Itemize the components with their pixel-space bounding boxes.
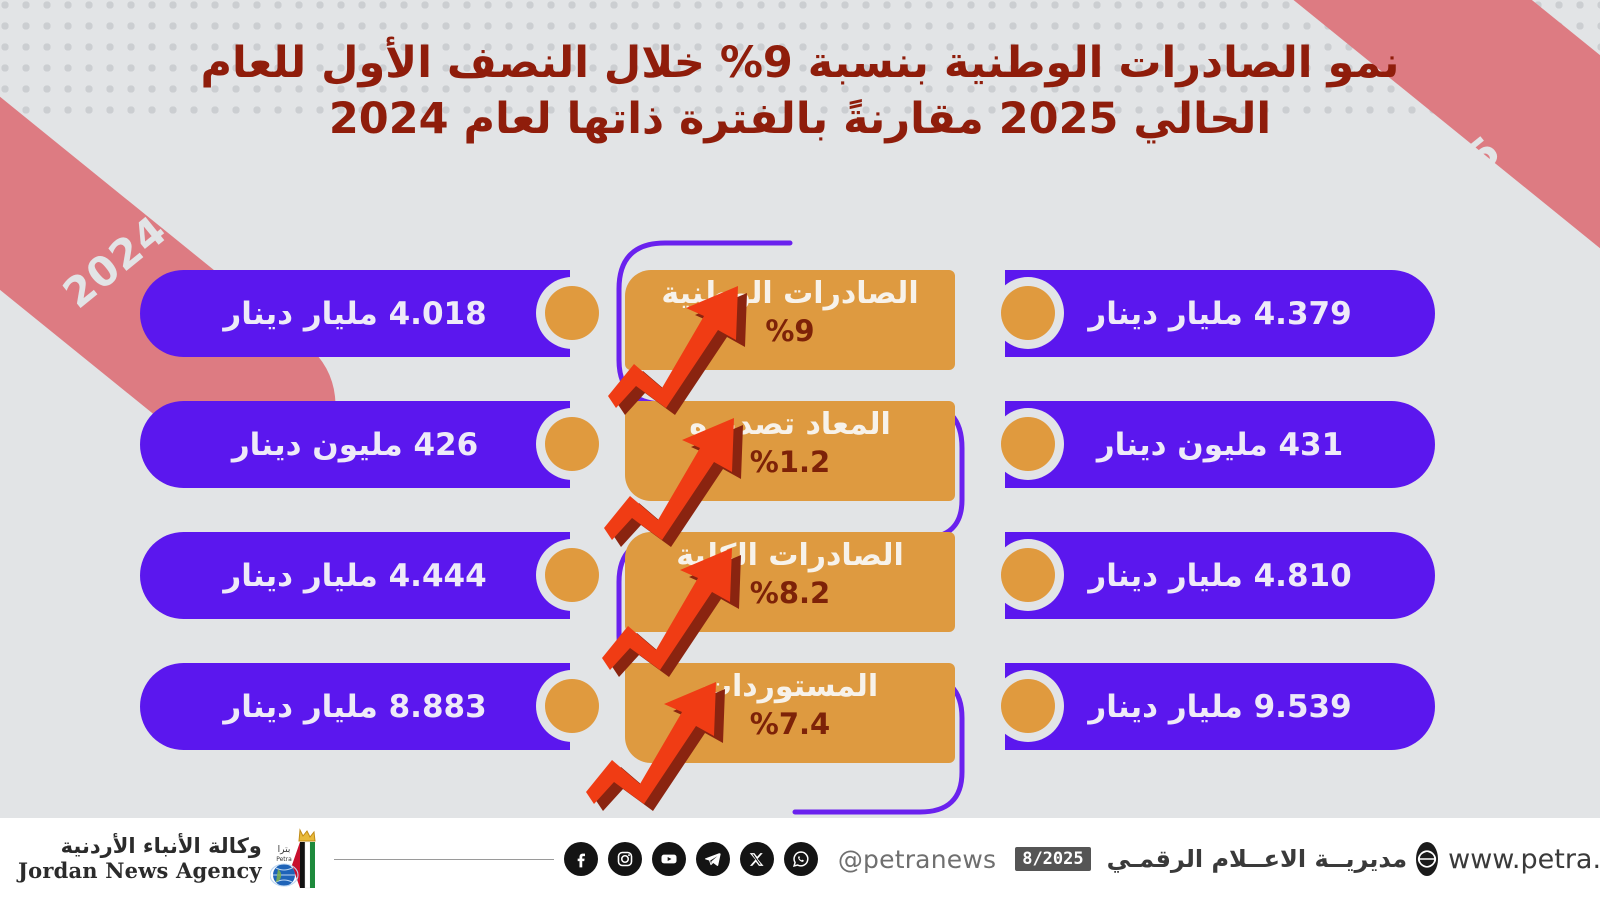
brand-name-en: Jordan News Agency [18,859,262,883]
value-2025-label: 431 مليون دينار [1097,427,1343,463]
connector-circle-right [1001,286,1055,340]
connector-circle-right [1001,679,1055,733]
metric-percent: %9 [625,313,955,349]
value-2024: 426 مليون دينار [140,401,570,488]
value-2024-label: 8.883 مليار دينار [223,689,486,725]
value-2024: 4.018 مليار دينار [140,270,570,357]
divider-line [334,859,554,860]
value-2025: 4.810 مليار دينار [1005,532,1435,619]
metric-percent: %7.4 [625,706,955,742]
telegram-icon[interactable] [696,842,730,876]
value-2025: 9.539 مليار دينار [1005,663,1435,750]
petra-logo-icon: بترا Petra [270,828,324,890]
metric-card: الصادرات الوطنية %9 [625,270,955,370]
metric-percent: %8.2 [625,575,955,611]
connector-circle-left [545,286,599,340]
svg-text:Petra: Petra [276,856,292,863]
footer-bar: وكالة الأنباء الأردنية Jordan News Agenc… [0,818,1600,900]
svg-text:بترا: بترا [278,845,291,855]
metric-label: المستوردات [625,669,955,706]
social-handle[interactable]: @petranews [838,845,996,874]
metric-percent: %1.2 [625,444,955,480]
title-line-2: الحالي 2025 مقارنةً بالفترة ذاتها لعام 2… [120,92,1480,148]
globe-icon [1416,842,1438,876]
value-2025-label: 4.810 مليار دينار [1088,558,1351,594]
value-2025: 431 مليون دينار [1005,401,1435,488]
value-2024: 4.444 مليار دينار [140,532,570,619]
website-url[interactable]: www.petra.gov.jo [1448,844,1600,875]
metric-card: الصادرات الكلية %8.2 [625,532,955,632]
facebook-icon[interactable] [564,842,598,876]
brand-name-ar: وكالة الأنباء الأردنية [18,835,262,859]
metric-label: الصادرات الكلية [625,538,955,575]
whatsapp-icon[interactable] [784,842,818,876]
value-2025-label: 9.539 مليار دينار [1088,689,1351,725]
title-line-1: نمو الصادرات الوطنية بنسبة 9% خلال النصف… [120,36,1480,92]
metric-label: الصادرات الوطنية [625,276,955,313]
connector-circle-right [1001,548,1055,602]
metric-card: المستوردات %7.4 [625,663,955,763]
value-2024: 8.883 مليار دينار [140,663,570,750]
connector-circle-left [545,679,599,733]
instagram-icon[interactable] [608,842,642,876]
connector-circle-left [545,548,599,602]
infographic-canvas: 2024 2025 نمو الصادرات الوطنية بنسبة 9% … [0,0,1600,900]
metric-card: المعاد تصديره %1.2 [625,401,955,501]
date-badge: 8/2025 [1015,847,1090,871]
brand-text: وكالة الأنباء الأردنية Jordan News Agenc… [18,835,262,882]
metric-label: المعاد تصديره [625,407,955,444]
social-links: @petranews 8/2025 [564,842,1091,876]
connector-circle-left [545,417,599,471]
value-2025-label: 4.379 مليار دينار [1088,296,1351,332]
page-title: نمو الصادرات الوطنية بنسبة 9% خلال النصف… [120,36,1480,148]
connector-circle-right [1001,417,1055,471]
x-icon[interactable] [740,842,774,876]
value-2024-label: 426 مليون دينار [232,427,478,463]
youtube-icon[interactable] [652,842,686,876]
department-label: مديريــة الاعــلام الرقمـي [1107,845,1408,873]
value-2025: 4.379 مليار دينار [1005,270,1435,357]
value-2024-label: 4.444 مليار دينار [223,558,486,594]
brand-logo: وكالة الأنباء الأردنية Jordan News Agenc… [18,828,324,890]
value-2024-label: 4.018 مليار دينار [223,296,486,332]
